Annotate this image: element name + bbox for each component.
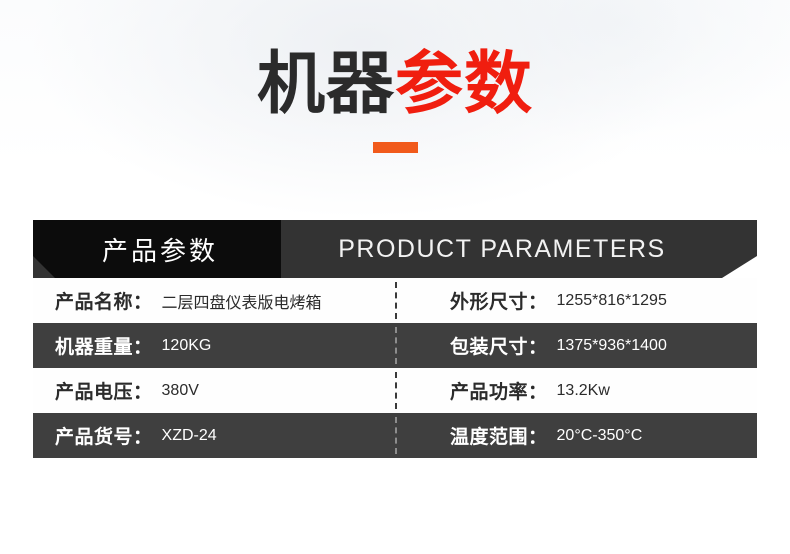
- row-divider: [395, 372, 397, 409]
- page-title-text: 机器参数: [0, 44, 790, 126]
- spec-value: 1375*936*1400: [557, 337, 667, 355]
- spec-value: 二层四盘仪表版电烤箱: [162, 289, 322, 313]
- table-row: 产品货号： XZD-24 温度范围： 20°C-350°C: [33, 413, 757, 458]
- spec-value: XZD-24: [162, 427, 217, 445]
- spec-value: 380V: [162, 382, 199, 400]
- spec-label: 产品名称：: [55, 287, 153, 314]
- spec-cell-right: 包装尺寸： 1375*936*1400: [395, 323, 757, 368]
- row-divider: [395, 327, 397, 364]
- spec-label: 机器重量：: [55, 332, 153, 359]
- spec-value: 1255*816*1295: [557, 292, 667, 310]
- spec-value: 13.2Kw: [557, 382, 610, 400]
- card-header-english: PRODUCT PARAMETERS: [281, 220, 757, 278]
- spec-label: 包装尺寸：: [450, 332, 548, 359]
- spec-value: 120KG: [162, 337, 212, 355]
- table-row: 产品名称： 二层四盘仪表版电烤箱 外形尺寸： 1255*816*1295: [33, 278, 757, 323]
- page-title: 机器参数: [0, 44, 790, 126]
- page-content: 机器参数 产品参数 PRODUCT PARAMETERS 产品名称： 二层四盘仪…: [0, 0, 790, 554]
- card-header-bar: 产品参数 PRODUCT PARAMETERS: [33, 220, 757, 278]
- spec-label: 产品货号：: [55, 422, 153, 449]
- page-title-accent: 参数: [395, 45, 533, 124]
- spec-label: 温度范围：: [450, 422, 548, 449]
- card-header-tab: 产品参数: [33, 220, 281, 278]
- spec-cell-right: 外形尺寸： 1255*816*1295: [395, 278, 757, 323]
- row-divider: [395, 417, 397, 454]
- product-parameters-card: 产品参数 PRODUCT PARAMETERS 产品名称： 二层四盘仪表版电烤箱…: [33, 220, 757, 458]
- spec-cell-left: 产品名称： 二层四盘仪表版电烤箱: [33, 278, 395, 323]
- title-underline-bar: [373, 142, 418, 153]
- spec-cell-left: 机器重量： 120KG: [33, 323, 395, 368]
- spec-cell-left: 产品电压： 380V: [33, 368, 395, 413]
- spec-rows: 产品名称： 二层四盘仪表版电烤箱 外形尺寸： 1255*816*1295 机器重…: [33, 278, 757, 458]
- card-header-tab-label: 产品参数: [96, 231, 218, 268]
- spec-cell-right: 产品功率： 13.2Kw: [395, 368, 757, 413]
- card-header-english-label: PRODUCT PARAMETERS: [338, 235, 666, 264]
- row-divider: [395, 282, 397, 319]
- spec-label: 产品电压：: [55, 377, 153, 404]
- spec-label: 产品功率：: [450, 377, 548, 404]
- page-title-primary: 机器: [257, 45, 395, 124]
- spec-value: 20°C-350°C: [557, 427, 643, 445]
- table-row: 产品电压： 380V 产品功率： 13.2Kw: [33, 368, 757, 413]
- spec-cell-left: 产品货号： XZD-24: [33, 413, 395, 458]
- table-row: 机器重量： 120KG 包装尺寸： 1375*936*1400: [33, 323, 757, 368]
- spec-cell-right: 温度范围： 20°C-350°C: [395, 413, 757, 458]
- spec-label: 外形尺寸：: [450, 287, 548, 314]
